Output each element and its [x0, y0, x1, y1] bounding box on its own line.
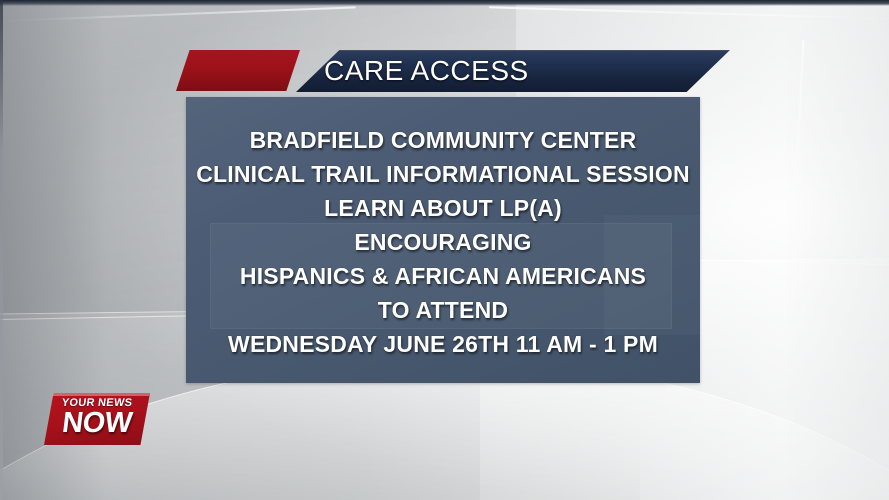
info-line-6: TO ATTEND: [378, 293, 508, 327]
info-card-text-block: BRADFIELD COMMUNITY CENTER CLINICAL TRAI…: [186, 97, 700, 383]
frame-edge-left: [0, 0, 3, 500]
banner-red-accent: [176, 50, 300, 91]
info-line-2: CLINICAL TRAIL INFORMATIONAL SESSION: [196, 157, 690, 191]
info-line-4: ENCOURAGING: [354, 225, 531, 259]
lower-third-banner: CARE ACCESS: [176, 50, 730, 91]
letterbox-bar-top: [0, 0, 889, 6]
info-line-5: HISPANICS & AFRICAN AMERICANS: [240, 259, 646, 293]
station-logo: YOUR NEWS NOW: [44, 393, 150, 445]
info-line-7: WEDNESDAY JUNE 26TH 11 AM - 1 PM: [228, 327, 658, 361]
info-line-3: LEARN ABOUT LP(A): [324, 191, 562, 225]
station-logo-bottom-text: NOW: [42, 407, 152, 439]
station-logo-highlight: [44, 393, 150, 396]
info-line-1: BRADFIELD COMMUNITY CENTER: [250, 123, 637, 157]
info-card: BRADFIELD COMMUNITY CENTER CLINICAL TRAI…: [186, 97, 700, 383]
broadcast-screen: CARE ACCESS BRADFIELD COMMUNITY CENTER C…: [0, 0, 889, 500]
banner-title-text: CARE ACCESS: [324, 50, 529, 91]
